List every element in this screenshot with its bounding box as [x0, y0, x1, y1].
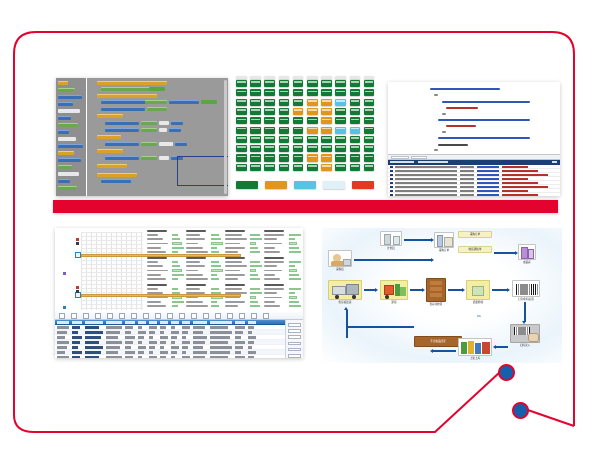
flow-node-n3: 采购订单	[434, 232, 454, 252]
code-editor-area[interactable]	[388, 82, 560, 154]
note-line	[264, 278, 280, 280]
table-column-header[interactable]	[235, 321, 245, 323]
accent-dot-upper	[498, 364, 515, 381]
flow-arrow-1	[404, 239, 432, 241]
status-grid-cell[interactable]	[307, 136, 318, 143]
status-grid-cell[interactable]	[250, 136, 261, 143]
status-grid-cell[interactable]	[264, 136, 275, 143]
note-heading	[186, 230, 206, 232]
status-grid-cell[interactable]	[293, 136, 304, 143]
canvas-block[interactable]	[141, 128, 157, 132]
status-grid-cell[interactable]	[279, 145, 290, 152]
blocks-scrollbar[interactable]	[224, 80, 227, 194]
palette-block[interactable]	[58, 137, 76, 141]
status-grid-cell[interactable]	[321, 154, 332, 161]
note-value	[211, 242, 223, 244]
table-column-header[interactable]	[125, 321, 135, 323]
status-grid-cell[interactable]	[321, 108, 332, 115]
table-toolbar[interactable]	[55, 312, 303, 320]
note-line	[264, 305, 280, 307]
status-grid-cell[interactable]	[293, 164, 304, 171]
status-grid-cell[interactable]	[335, 164, 346, 171]
table-cell	[210, 346, 232, 348]
status-grid-cell[interactable]	[350, 164, 361, 171]
gantt-gridline	[81, 292, 143, 293]
code-line	[438, 119, 530, 121]
status-grid-cell[interactable]	[350, 108, 361, 115]
status-grid-cell[interactable]	[250, 145, 261, 152]
table-column-header[interactable]	[138, 321, 146, 323]
table-cell	[182, 341, 190, 343]
table-column-header[interactable]	[57, 321, 69, 323]
note-line	[264, 234, 284, 236]
palette-block[interactable]	[58, 116, 71, 120]
canvas-block[interactable]	[105, 121, 139, 125]
status-grid-cell[interactable]	[307, 164, 318, 171]
slide-canvas: 计划员 采购员 采购订单 采购订单 收货通知单	[0, 0, 600, 450]
status-grid-cell[interactable]	[236, 117, 247, 124]
note-line	[264, 265, 277, 267]
status-grid-panel[interactable]	[236, 80, 384, 176]
status-grid-cell[interactable]	[236, 164, 247, 171]
note-heading	[147, 257, 167, 259]
table-cell	[171, 351, 177, 353]
flow-node-n2: 采购员	[328, 250, 352, 271]
flow-node-n1: 计划员	[380, 231, 402, 250]
palette-block[interactable]	[58, 109, 80, 113]
note-value	[289, 292, 295, 294]
table-column-header[interactable]	[149, 321, 157, 323]
status-grid-cell[interactable]	[321, 80, 332, 87]
canvas-block[interactable]	[159, 121, 169, 125]
status-grid-cell[interactable]	[350, 136, 361, 143]
canvas-block[interactable]	[105, 156, 139, 160]
canvas-block[interactable]	[101, 100, 147, 104]
canvas-block[interactable]	[105, 128, 139, 132]
table-side-button[interactable]	[288, 335, 301, 339]
note-value	[172, 261, 178, 263]
status-grid-cell[interactable]	[279, 164, 290, 171]
gantt-bar[interactable]	[81, 254, 241, 257]
palette-block[interactable]	[58, 151, 74, 155]
status-grid-cell[interactable]	[307, 127, 318, 134]
status-grid-cell[interactable]	[321, 136, 332, 143]
toolbar-icon[interactable]	[83, 313, 89, 318]
status-grid-cell[interactable]	[364, 80, 375, 87]
status-grid-cell[interactable]	[236, 127, 247, 134]
note-value	[250, 238, 262, 240]
palette-block[interactable]	[58, 102, 73, 106]
status-grid-cell[interactable]	[293, 117, 304, 124]
status-grid-cell[interactable]	[250, 108, 261, 115]
status-grid-cell[interactable]	[264, 117, 275, 124]
status-grid-cell[interactable]	[279, 117, 290, 124]
status-grid-cell[interactable]	[236, 89, 247, 96]
status-grid-cell[interactable]	[364, 89, 375, 96]
canvas-block[interactable]	[145, 100, 167, 104]
status-grid-cell[interactable]	[364, 145, 375, 152]
canvas-block[interactable]	[159, 156, 169, 160]
toolbar-icon[interactable]	[215, 313, 221, 318]
status-grid-cell[interactable]	[307, 99, 318, 106]
status-grid-cell[interactable]	[250, 154, 261, 161]
toolbar-icon[interactable]	[95, 313, 101, 318]
status-grid-cell[interactable]	[279, 99, 290, 106]
status-grid-column-header	[350, 76, 361, 80]
table-cell	[85, 351, 101, 353]
status-legend-chip	[236, 181, 258, 189]
flow-arrow-12	[346, 326, 414, 328]
canvas-block[interactable]	[141, 121, 157, 125]
code-line	[446, 107, 478, 109]
status-grid-cell[interactable]	[293, 99, 304, 106]
table-body[interactable]	[55, 325, 303, 358]
table-cell	[193, 326, 205, 328]
note-line	[147, 261, 158, 263]
table-column-header[interactable]	[182, 321, 190, 323]
note-value	[211, 247, 217, 249]
note-value	[250, 269, 256, 271]
table-column-header[interactable]	[72, 321, 82, 323]
gantt-gridline	[81, 268, 143, 269]
canvas-block[interactable]	[201, 100, 217, 104]
toolbar-icon[interactable]	[131, 313, 137, 318]
canvas-block[interactable]	[101, 107, 145, 111]
canvas-block[interactable]	[97, 164, 127, 168]
status-grid-cell[interactable]	[307, 117, 318, 124]
status-grid-cell[interactable]	[364, 136, 375, 143]
canvas-block[interactable]	[169, 128, 181, 132]
status-legend-chip	[352, 181, 374, 189]
canvas-block[interactable]	[101, 179, 131, 183]
status-grid-cell[interactable]	[264, 80, 275, 87]
canvas-block[interactable]	[141, 156, 157, 160]
note-cards-area[interactable]	[147, 230, 301, 310]
note-value	[172, 278, 178, 280]
table-cell	[248, 336, 256, 338]
status-grid-cell[interactable]	[236, 108, 247, 115]
table-cell	[182, 356, 190, 358]
status-grid-cell[interactable]	[279, 108, 290, 115]
status-grid-cell[interactable]	[250, 117, 261, 124]
canvas-block[interactable]	[175, 142, 187, 146]
status-grid-cell[interactable]	[321, 117, 332, 124]
canvas-block[interactable]	[105, 142, 139, 146]
palette-block[interactable]	[58, 179, 70, 183]
note-line	[225, 270, 240, 272]
table-column-header[interactable]	[193, 321, 207, 323]
table-cell	[160, 331, 164, 333]
palette-block[interactable]	[58, 81, 68, 85]
status-grid-cell[interactable]	[350, 145, 361, 152]
status-grid-cell[interactable]	[293, 127, 304, 134]
status-grid-column-header	[293, 76, 304, 80]
canvas-block[interactable]	[159, 142, 173, 146]
canvas-block[interactable]	[97, 149, 123, 153]
status-grid-cell[interactable]	[335, 136, 346, 143]
status-grid-cell[interactable]	[250, 89, 261, 96]
flow-node-n6: 卸货	[380, 280, 408, 304]
status-grid-cell[interactable]	[264, 89, 275, 96]
table-cell	[171, 331, 179, 333]
palette-block[interactable]	[58, 95, 82, 99]
table-cell	[235, 341, 245, 343]
status-grid-cell[interactable]	[264, 127, 275, 134]
toolbar-icon[interactable]	[191, 313, 197, 318]
flow-arrowhead-9	[493, 345, 496, 349]
note-value	[250, 242, 256, 244]
status-grid-cell[interactable]	[236, 80, 247, 87]
table-cell	[85, 346, 103, 348]
toolbar-icon[interactable]	[107, 313, 113, 318]
ide-panel[interactable]	[388, 82, 560, 196]
table-cell	[248, 326, 254, 328]
status-grid-cell[interactable]	[250, 80, 261, 87]
table-side-button[interactable]	[288, 348, 301, 352]
table-column-header[interactable]	[106, 321, 122, 323]
status-grid-cell[interactable]	[321, 127, 332, 134]
status-grid-cell[interactable]	[335, 99, 346, 106]
status-grid-cell[interactable]	[307, 108, 318, 115]
note-value	[211, 251, 219, 253]
palette-block[interactable]	[58, 172, 79, 176]
table-column-header[interactable]	[248, 321, 256, 323]
status-grid-cell[interactable]	[335, 117, 346, 124]
status-grid-cell[interactable]	[321, 145, 332, 152]
note-value	[211, 288, 219, 290]
table-cell	[171, 341, 175, 343]
note-line	[264, 251, 280, 253]
toolbar-icon[interactable]	[203, 313, 209, 318]
planner-panel[interactable]	[55, 228, 303, 358]
table-side-button[interactable]	[288, 329, 301, 333]
toolbar-icon[interactable]	[59, 313, 65, 318]
table-cell	[125, 356, 133, 358]
canvas-block[interactable]	[147, 107, 167, 111]
table-cell	[149, 326, 157, 328]
canvas-block[interactable]	[149, 87, 165, 91]
status-grid-cell[interactable]	[350, 99, 361, 106]
canvas-block[interactable]	[97, 173, 137, 177]
status-grid-cell[interactable]	[264, 99, 275, 106]
status-grid-cell[interactable]	[321, 89, 332, 96]
toolbar-icon[interactable]	[179, 313, 185, 318]
status-grid-cell[interactable]	[364, 117, 375, 124]
toolbar-icon[interactable]	[263, 313, 269, 318]
flow-label-n15: 成品库	[523, 261, 531, 264]
note-value	[172, 274, 184, 276]
note-line	[264, 274, 275, 276]
status-grid-cell[interactable]	[293, 154, 304, 161]
toolbar-icon[interactable]	[155, 313, 161, 318]
status-grid-cell[interactable]	[250, 164, 261, 171]
status-grid-cell[interactable]	[236, 145, 247, 152]
status-grid-cell[interactable]	[293, 108, 304, 115]
log-row[interactable]	[388, 193, 560, 196]
note-value	[172, 242, 182, 244]
flow-arrowhead-7	[507, 288, 510, 292]
status-grid-cell[interactable]	[307, 80, 318, 87]
table-cell	[210, 336, 230, 338]
status-grid-cell[interactable]	[279, 154, 290, 161]
status-grid-cell[interactable]	[335, 145, 346, 152]
status-grid-cell[interactable]	[350, 117, 361, 124]
status-grid-cell[interactable]	[364, 154, 375, 161]
planner-top-zone[interactable]	[55, 228, 303, 312]
status-grid-cell[interactable]	[364, 108, 375, 115]
flow-arrowhead-3	[515, 251, 518, 255]
table-column-header[interactable]	[85, 321, 103, 323]
note-heading	[147, 230, 167, 232]
gantt-grid[interactable]	[81, 232, 143, 310]
table-cell	[182, 351, 186, 353]
code-line	[442, 101, 530, 103]
canvas-block[interactable]	[159, 128, 167, 132]
toolbar-icon[interactable]	[119, 313, 125, 318]
gantt-node[interactable]	[75, 252, 81, 258]
gantt-marker	[63, 306, 66, 309]
status-grid-cell[interactable]	[264, 154, 275, 161]
note-line	[264, 297, 282, 299]
output-log-panel[interactable]	[388, 154, 560, 196]
table-cell	[248, 351, 256, 353]
status-grid-cell[interactable]	[321, 99, 332, 106]
canvas-block[interactable]	[97, 114, 123, 118]
status-grid-cell[interactable]	[250, 99, 261, 106]
flow-arrowhead-2	[431, 258, 434, 262]
canvas-block[interactable]	[169, 100, 199, 104]
flow-label-n6: 卸货	[391, 301, 396, 304]
table-column-header[interactable]	[160, 321, 168, 323]
table-column-header[interactable]	[171, 321, 179, 323]
status-legend-chip	[294, 181, 316, 189]
table-cell	[182, 331, 188, 333]
flow-arrow-6	[448, 289, 463, 291]
status-grid-cell[interactable]	[264, 145, 275, 152]
table-cell	[57, 351, 65, 353]
status-grid-cell[interactable]	[364, 164, 375, 171]
palette-block[interactable]	[58, 130, 69, 134]
status-grid-cell[interactable]	[279, 80, 290, 87]
status-grid-cell[interactable]	[236, 99, 247, 106]
canvas-block[interactable]	[97, 81, 167, 85]
blocks-editor-panel[interactable]	[56, 78, 228, 196]
status-grid-cell[interactable]	[335, 154, 346, 161]
status-grid-cell[interactable]	[264, 164, 275, 171]
status-grid-cell[interactable]	[350, 127, 361, 134]
toolbar-icon[interactable]	[227, 313, 233, 318]
canvas-block[interactable]	[101, 87, 153, 91]
palette-block[interactable]	[58, 88, 75, 92]
table-side-buttons[interactable]	[285, 320, 303, 358]
palette-block[interactable]	[58, 144, 83, 148]
table-side-button[interactable]	[288, 323, 301, 327]
table-cell	[72, 346, 78, 348]
status-grid-cell[interactable]	[279, 136, 290, 143]
status-grid-cell[interactable]	[307, 145, 318, 152]
status-grid-cell[interactable]	[236, 136, 247, 143]
status-grid-cell[interactable]	[250, 127, 261, 134]
status-grid-cell[interactable]	[321, 164, 332, 171]
gantt-gridline	[81, 300, 143, 301]
code-line	[434, 149, 438, 151]
status-grid-cell[interactable]	[307, 154, 318, 161]
status-grid-cell[interactable]	[307, 89, 318, 96]
table-side-button[interactable]	[288, 342, 301, 346]
canvas-block[interactable]	[171, 121, 183, 125]
table-row[interactable]	[55, 355, 303, 358]
table-cell	[138, 336, 144, 338]
toolbar-icon[interactable]	[71, 313, 77, 318]
status-grid-cell[interactable]	[335, 80, 346, 87]
palette-block[interactable]	[58, 123, 78, 127]
status-grid-cell[interactable]	[350, 154, 361, 161]
toolbar-icon[interactable]	[167, 313, 173, 318]
data-table[interactable]	[55, 312, 303, 358]
note-heading	[225, 230, 245, 232]
status-grid-cell[interactable]	[364, 127, 375, 134]
log-rows[interactable]	[388, 165, 560, 196]
blocks-palette[interactable]	[56, 78, 86, 196]
status-grid-cell[interactable]	[335, 108, 346, 115]
table-cell	[171, 336, 177, 338]
status-grid-cell[interactable]	[279, 89, 290, 96]
toolbar-icon[interactable]	[239, 313, 245, 318]
table-cell	[106, 326, 122, 328]
status-grid-cell[interactable]	[236, 154, 247, 161]
status-grid-cell[interactable]	[350, 80, 361, 87]
note-line	[147, 305, 166, 307]
canvas-block[interactable]	[97, 135, 121, 139]
palette-block[interactable]	[58, 158, 81, 162]
status-grid-cell[interactable]	[335, 89, 346, 96]
status-grid-cell[interactable]	[350, 89, 361, 96]
status-grid-column-header	[307, 76, 318, 80]
gantt-gridline	[81, 280, 143, 281]
status-grid-cell[interactable]	[335, 127, 346, 134]
blocks-canvas[interactable]	[87, 78, 228, 196]
status-grid-cell[interactable]	[293, 80, 304, 87]
status-grid-cell[interactable]	[293, 89, 304, 96]
table-cell	[106, 356, 122, 358]
palette-block[interactable]	[58, 186, 77, 190]
palette-block[interactable]	[58, 165, 72, 169]
status-grid-cell[interactable]	[264, 108, 275, 115]
flow-label-n13: 不合格品隐区	[430, 340, 446, 343]
note-value	[172, 301, 184, 303]
flow-label-n2: 采购员	[336, 268, 344, 271]
gantt-bar[interactable]	[81, 294, 241, 297]
status-grid-cell[interactable]	[279, 127, 290, 134]
status-legend-chip	[265, 181, 287, 189]
code-line	[446, 125, 476, 127]
table-side-button[interactable]	[288, 354, 301, 358]
table-column-header[interactable]	[210, 321, 232, 323]
flow-node-n11: 上架上库	[458, 338, 492, 360]
status-grid-cell[interactable]	[364, 99, 375, 106]
canvas-block[interactable]	[141, 142, 157, 146]
toolbar-icon[interactable]	[251, 313, 257, 318]
canvas-block[interactable]	[97, 94, 157, 98]
gantt-marker	[76, 238, 79, 241]
block-selection-outline	[177, 156, 228, 186]
gantt-gridline	[81, 244, 143, 245]
status-grid-cell[interactable]	[293, 145, 304, 152]
toolbar-icon[interactable]	[143, 313, 149, 318]
note-line	[186, 270, 198, 272]
note-value	[250, 234, 260, 236]
note-value	[211, 274, 217, 276]
